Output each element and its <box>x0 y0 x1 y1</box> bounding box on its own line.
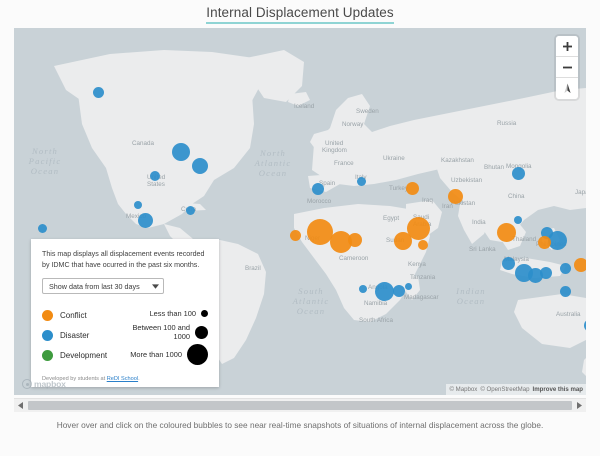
size-dot-large <box>187 344 208 365</box>
legend-size-label: Less than 100 <box>150 309 196 318</box>
legend-description: This map displays all displacement event… <box>42 249 208 270</box>
conflict-color-swatch <box>42 310 53 321</box>
legend-item-disaster[interactable]: Disaster <box>42 325 126 345</box>
mapbox-wordmark: mapbox <box>34 379 66 389</box>
legend-size-medium: Between 100 and 1000 <box>126 321 208 343</box>
page-title: Internal Displacement Updates <box>206 5 394 24</box>
displacement-bubble[interactable] <box>312 183 324 195</box>
map-legend-panel[interactable]: This map displays all displacement event… <box>31 239 219 387</box>
zoom-out-button[interactable] <box>556 57 578 78</box>
displacement-bubble[interactable] <box>497 223 516 242</box>
development-color-swatch <box>42 350 53 361</box>
legend-size-small: Less than 100 <box>126 305 208 321</box>
displacement-bubble[interactable] <box>405 283 412 290</box>
map-container[interactable]: NorthPacificOcean NorthAtlanticOcean Sou… <box>14 28 586 395</box>
plus-icon <box>563 42 572 51</box>
attribution-mapbox[interactable]: © Mapbox <box>449 386 477 393</box>
chevron-down-icon <box>152 284 159 289</box>
horizontal-scrollbar[interactable] <box>14 398 586 412</box>
legend-category-label: Development <box>60 351 107 360</box>
chevron-left-icon <box>18 402 23 409</box>
map-zoom-controls[interactable] <box>556 36 578 99</box>
legend-category-list: Conflict Disaster Development <box>42 305 126 365</box>
size-dot-small <box>201 310 208 317</box>
legend-item-development[interactable]: Development <box>42 345 126 365</box>
map-attribution[interactable]: © Mapbox © OpenStreetMap Improve this ma… <box>446 384 586 395</box>
displacement-bubble[interactable] <box>418 240 428 250</box>
legend-size-large: More than 1000 <box>126 343 208 365</box>
legend-item-conflict[interactable]: Conflict <box>42 305 126 325</box>
displacement-bubble[interactable] <box>348 233 362 247</box>
displacement-bubble[interactable] <box>407 217 430 240</box>
scrollbar-track[interactable] <box>27 399 573 413</box>
displacement-bubble[interactable] <box>186 206 195 215</box>
displacement-bubble[interactable] <box>172 143 190 161</box>
scroll-left-arrow[interactable] <box>14 399 27 413</box>
mapbox-mark-icon <box>22 379 32 389</box>
displacement-bubble[interactable] <box>375 282 394 301</box>
compass-reset-bearing-button[interactable] <box>556 78 578 99</box>
displacement-bubble[interactable] <box>38 224 47 233</box>
credit-suffix: . <box>138 376 140 382</box>
displacement-bubble[interactable] <box>290 230 301 241</box>
chevron-right-icon <box>577 402 582 409</box>
displacement-bubble[interactable] <box>512 167 525 180</box>
legend-size-scale: Less than 100 Between 100 and 1000 More … <box>126 305 208 365</box>
displacement-bubble[interactable] <box>138 213 153 228</box>
displacement-bubble[interactable] <box>393 285 405 297</box>
time-range-selected-value: Show data from last 30 days <box>49 282 152 291</box>
displacement-bubble[interactable] <box>502 257 515 270</box>
displacement-bubble[interactable] <box>134 201 142 209</box>
page-header: Internal Displacement Updates <box>0 0 600 28</box>
displacement-bubble[interactable] <box>560 286 571 297</box>
displacement-bubble[interactable] <box>540 267 552 279</box>
displacement-bubble[interactable] <box>357 177 366 186</box>
scroll-right-arrow[interactable] <box>573 399 586 413</box>
improve-this-map-link[interactable]: Improve this map <box>533 386 583 393</box>
disaster-color-swatch <box>42 330 53 341</box>
map-canvas[interactable]: NorthPacificOcean NorthAtlanticOcean Sou… <box>14 28 586 395</box>
mapbox-logo[interactable]: mapbox <box>22 379 66 389</box>
displacement-bubble[interactable] <box>560 263 571 274</box>
zoom-in-button[interactable] <box>556 36 578 57</box>
displacement-bubble[interactable] <box>538 236 551 249</box>
displacement-bubble[interactable] <box>406 182 419 195</box>
displacement-bubble[interactable] <box>359 285 367 293</box>
minus-icon <box>563 63 572 72</box>
footer-instruction: Hover over and click on the coloured bub… <box>0 420 600 430</box>
size-dot-medium <box>195 326 208 339</box>
legend-size-label: More than 1000 <box>130 350 182 359</box>
legend-category-label: Conflict <box>60 311 87 320</box>
displacement-bubble[interactable] <box>192 158 208 174</box>
displacement-bubble[interactable] <box>448 189 463 204</box>
attribution-osm[interactable]: © OpenStreetMap <box>480 386 529 393</box>
displacement-bubble[interactable] <box>93 87 104 98</box>
legend-size-label: Between 100 and 1000 <box>132 323 190 341</box>
redi-school-link[interactable]: ReDI School <box>107 376 138 382</box>
time-range-select[interactable]: Show data from last 30 days <box>42 278 164 294</box>
compass-icon <box>562 83 573 95</box>
displacement-bubble[interactable] <box>150 171 160 181</box>
legend-category-label: Disaster <box>60 331 89 340</box>
displacement-bubble[interactable] <box>514 216 522 224</box>
scrollbar-thumb[interactable] <box>28 401 572 410</box>
displacement-bubble[interactable] <box>574 258 586 272</box>
